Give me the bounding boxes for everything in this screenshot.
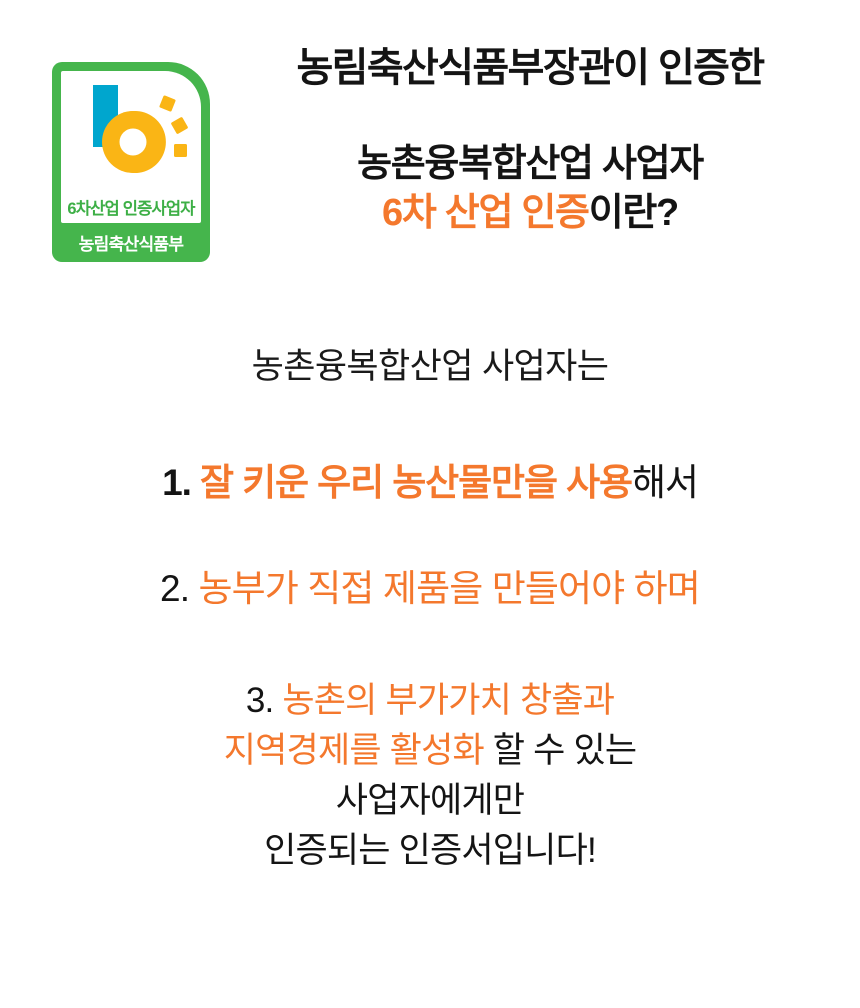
certification-mark-inner-panel: 6차산업 인증사업자 — [61, 71, 201, 223]
list-item-3-row-1: 3. 농촌의 부가가치 창출과 — [0, 676, 860, 726]
list-item-3-tail-line-2: 할 수 있는 — [484, 731, 636, 770]
list-item: 1. 잘 키운 우리 농산물만을 사용해서 — [0, 452, 860, 506]
list-item-3-number: 3. — [246, 681, 283, 720]
list-item-2-highlight: 농부가 직접 제품을 만들어야 하며 — [198, 568, 699, 609]
header-section: 6차산업 인증사업자 농림축산식품부 농림축산식품부장관이 인증한 농촌융복합산… — [0, 0, 860, 290]
sixth-industry-b-symbol-icon — [61, 71, 201, 181]
certification-mark-ministry-label: 농림축산식품부 — [52, 230, 210, 255]
list-item-3-row-2: 지역경제를 활성화 할 수 있는 — [0, 726, 860, 776]
page-title-line-1: 농림축산식품부장관이 인증한 — [222, 46, 838, 90]
list-item-1-tail: 해서 — [632, 462, 698, 503]
list-item: 3. 농촌의 부가가치 창출과 지역경제를 활성화 할 수 있는 사업자에게만 … — [0, 676, 860, 876]
certification-mark-logo: 6차산업 인증사업자 농림축산식품부 — [52, 62, 210, 262]
list-item-1-highlight: 잘 키운 우리 농산물만을 사용 — [200, 462, 632, 503]
page-title-line-3: 6차 산업 인증이란? — [222, 189, 838, 238]
list-item: 2. 농부가 직접 제품을 만들어야 하며 — [0, 558, 860, 612]
page-title-tail: 이란? — [589, 192, 678, 234]
list-item-3-highlight-line-2: 지역경제를 활성화 — [224, 731, 484, 770]
infographic-page: 6차산업 인증사업자 농림축산식품부 농림축산식품부장관이 인증한 농촌융복합산… — [0, 0, 860, 1008]
list-item-3-row-4: 인증되는 인증서입니다! — [0, 826, 860, 876]
list-item-1-number: 1. — [162, 462, 200, 503]
lead-sentence: 농촌융복합산업 사업자는 — [0, 338, 860, 389]
header-title-block: 농림축산식품부장관이 인증한 농촌융복합산업 사업자 6차 산업 인증이란? — [222, 46, 838, 237]
certification-mark-caption: 6차산업 인증사업자 — [61, 195, 201, 219]
list-item-3-highlight-line-1: 농촌의 부가가치 창출과 — [282, 681, 614, 720]
list-item-2-number: 2. — [160, 568, 198, 609]
page-title-line-2: 농촌융복합산업 사업자 — [222, 140, 838, 189]
page-title-highlight: 6차 산업 인증 — [382, 192, 589, 234]
list-item-3-row-3: 사업자에게만 — [0, 776, 860, 826]
